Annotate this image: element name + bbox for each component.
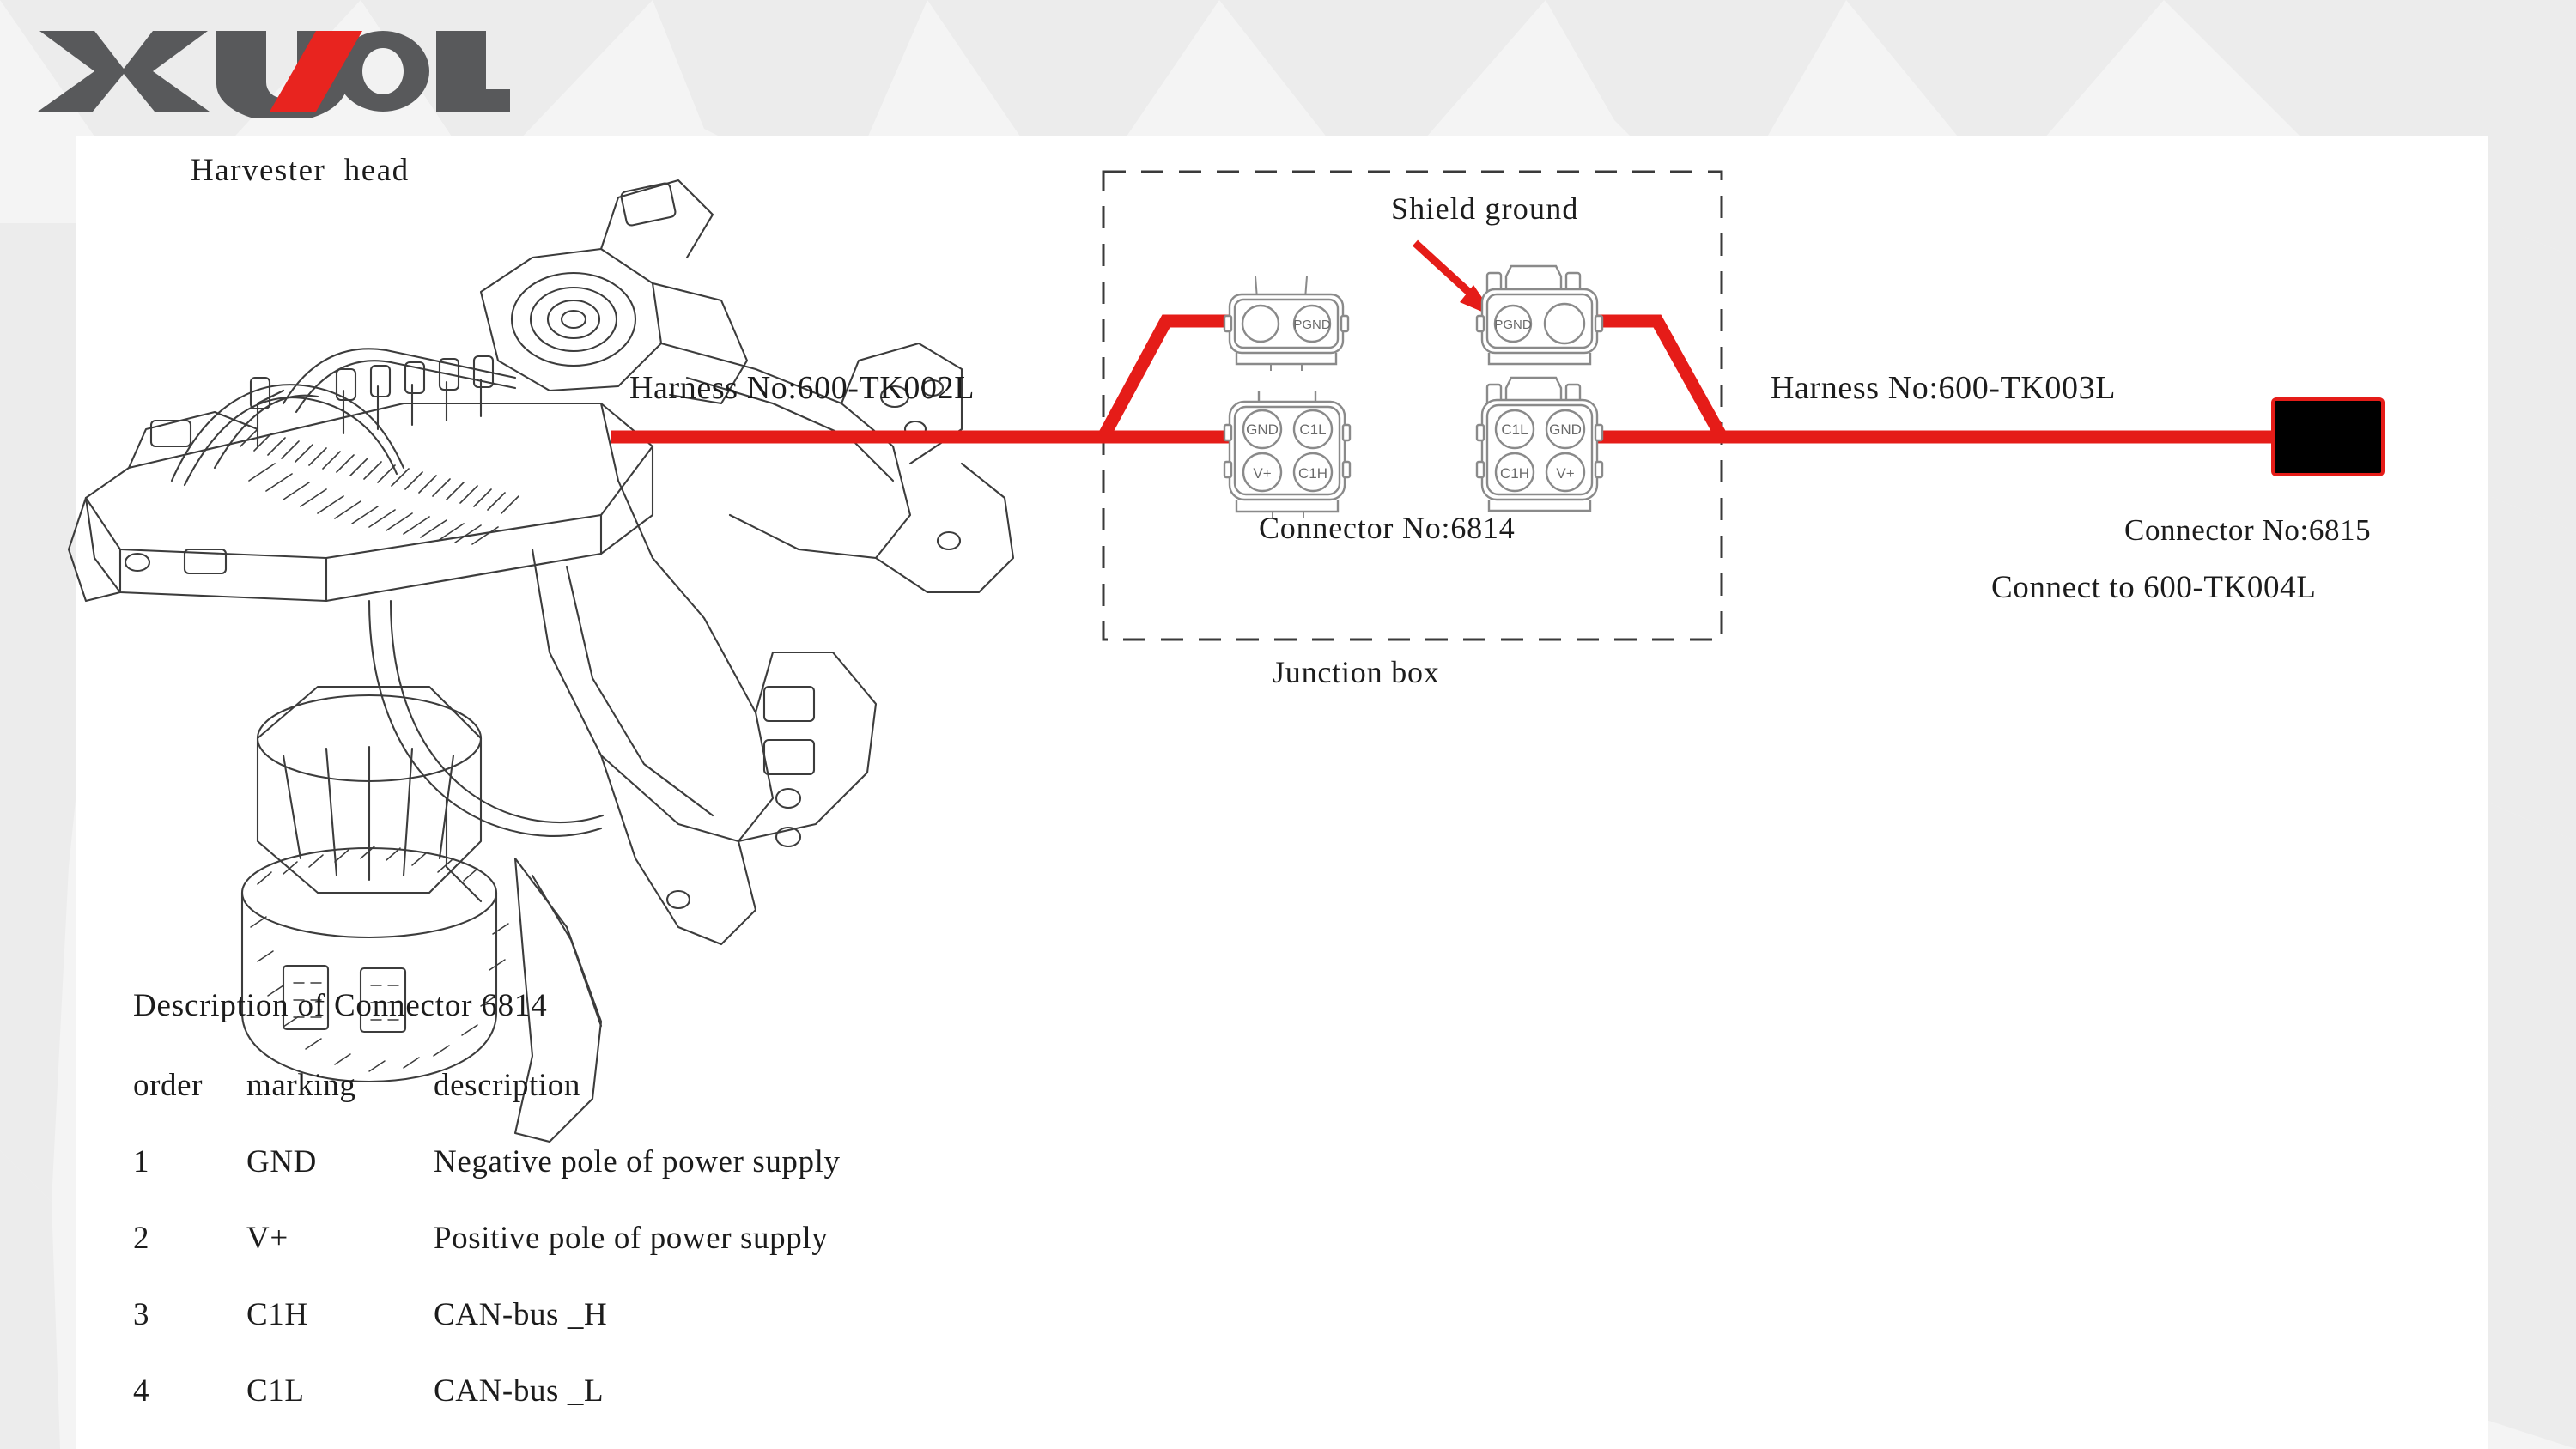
connector-left-4pin bbox=[1224, 391, 1350, 518]
cell-marking: GND bbox=[246, 1143, 434, 1180]
connect-to-label: Connect to 600-TK004L bbox=[1991, 569, 2316, 606]
cell-order: 3 bbox=[133, 1296, 246, 1333]
pin-label-left2-pgnd: PGND bbox=[1293, 318, 1331, 332]
table-row: 4 C1L CAN-bus _L bbox=[133, 1373, 1421, 1449]
wire-right-branch-up bbox=[1595, 321, 1722, 437]
cell-description: CAN-bus _L bbox=[434, 1373, 1421, 1410]
pin-label-right2-pgnd: PGND bbox=[1494, 318, 1532, 332]
pin-label-right4-gnd: GND bbox=[1549, 421, 1582, 438]
connector-right-4pin bbox=[1477, 378, 1602, 511]
pin-label-left4-c1l: C1L bbox=[1299, 421, 1326, 438]
pin-label-left4-gnd: GND bbox=[1246, 421, 1279, 438]
wire-left-branch-up bbox=[1103, 321, 1231, 437]
column-header-marking: marking bbox=[246, 1067, 434, 1104]
pin-label-right4-c1h: C1H bbox=[1500, 465, 1529, 482]
cell-marking: C1H bbox=[246, 1296, 434, 1333]
connector-6815-label: Connector No:6815 bbox=[2124, 513, 2371, 548]
table-header-row: order marking description bbox=[133, 1067, 1421, 1143]
cell-description: Negative pole of power supply bbox=[434, 1143, 1421, 1180]
shield-ground-label: Shield ground bbox=[1391, 191, 1579, 227]
column-header-description: description bbox=[434, 1067, 1421, 1104]
cell-order: 1 bbox=[133, 1143, 246, 1180]
table-title: Description of Connector 6814 bbox=[133, 987, 1421, 1024]
pin-label-left4-vplus: V+ bbox=[1253, 465, 1271, 482]
pin-label-right4-c1l: C1L bbox=[1501, 421, 1528, 438]
cell-order: 2 bbox=[133, 1220, 246, 1257]
junction-box-boundary bbox=[1103, 172, 1722, 640]
harness-right-label: Harness No:600-TK003L bbox=[1771, 369, 2116, 407]
harvester-head-label: Harvester head bbox=[191, 152, 410, 189]
table-row: 3 C1H CAN-bus _H bbox=[133, 1296, 1421, 1373]
junction-box-label: Junction box bbox=[1273, 654, 1440, 690]
cell-marking: C1L bbox=[246, 1373, 434, 1410]
connector-description-table: Description of Connector 6814 order mark… bbox=[133, 987, 1421, 1449]
table-row: 2 V+ Positive pole of power supply bbox=[133, 1220, 1421, 1296]
harness-left-label: Harness No:600-TK002L bbox=[629, 369, 975, 407]
cell-order: 4 bbox=[133, 1373, 246, 1410]
pin-label-left4-c1h: C1H bbox=[1298, 465, 1327, 482]
column-header-order: order bbox=[133, 1067, 246, 1104]
cell-marking: V+ bbox=[246, 1220, 434, 1257]
pin-label-right4-vplus: V+ bbox=[1556, 465, 1574, 482]
connector-right-2pin bbox=[1477, 266, 1602, 364]
cell-description: Positive pole of power supply bbox=[434, 1220, 1421, 1257]
connector-6815-box bbox=[2271, 397, 2385, 476]
page-root: PGND GND C1L V+ C1H bbox=[0, 0, 2576, 1449]
connector-6814-label: Connector No:6814 bbox=[1259, 510, 1516, 546]
table-row: 1 GND Negative pole of power supply bbox=[133, 1143, 1421, 1220]
cell-description: CAN-bus _H bbox=[434, 1296, 1421, 1333]
